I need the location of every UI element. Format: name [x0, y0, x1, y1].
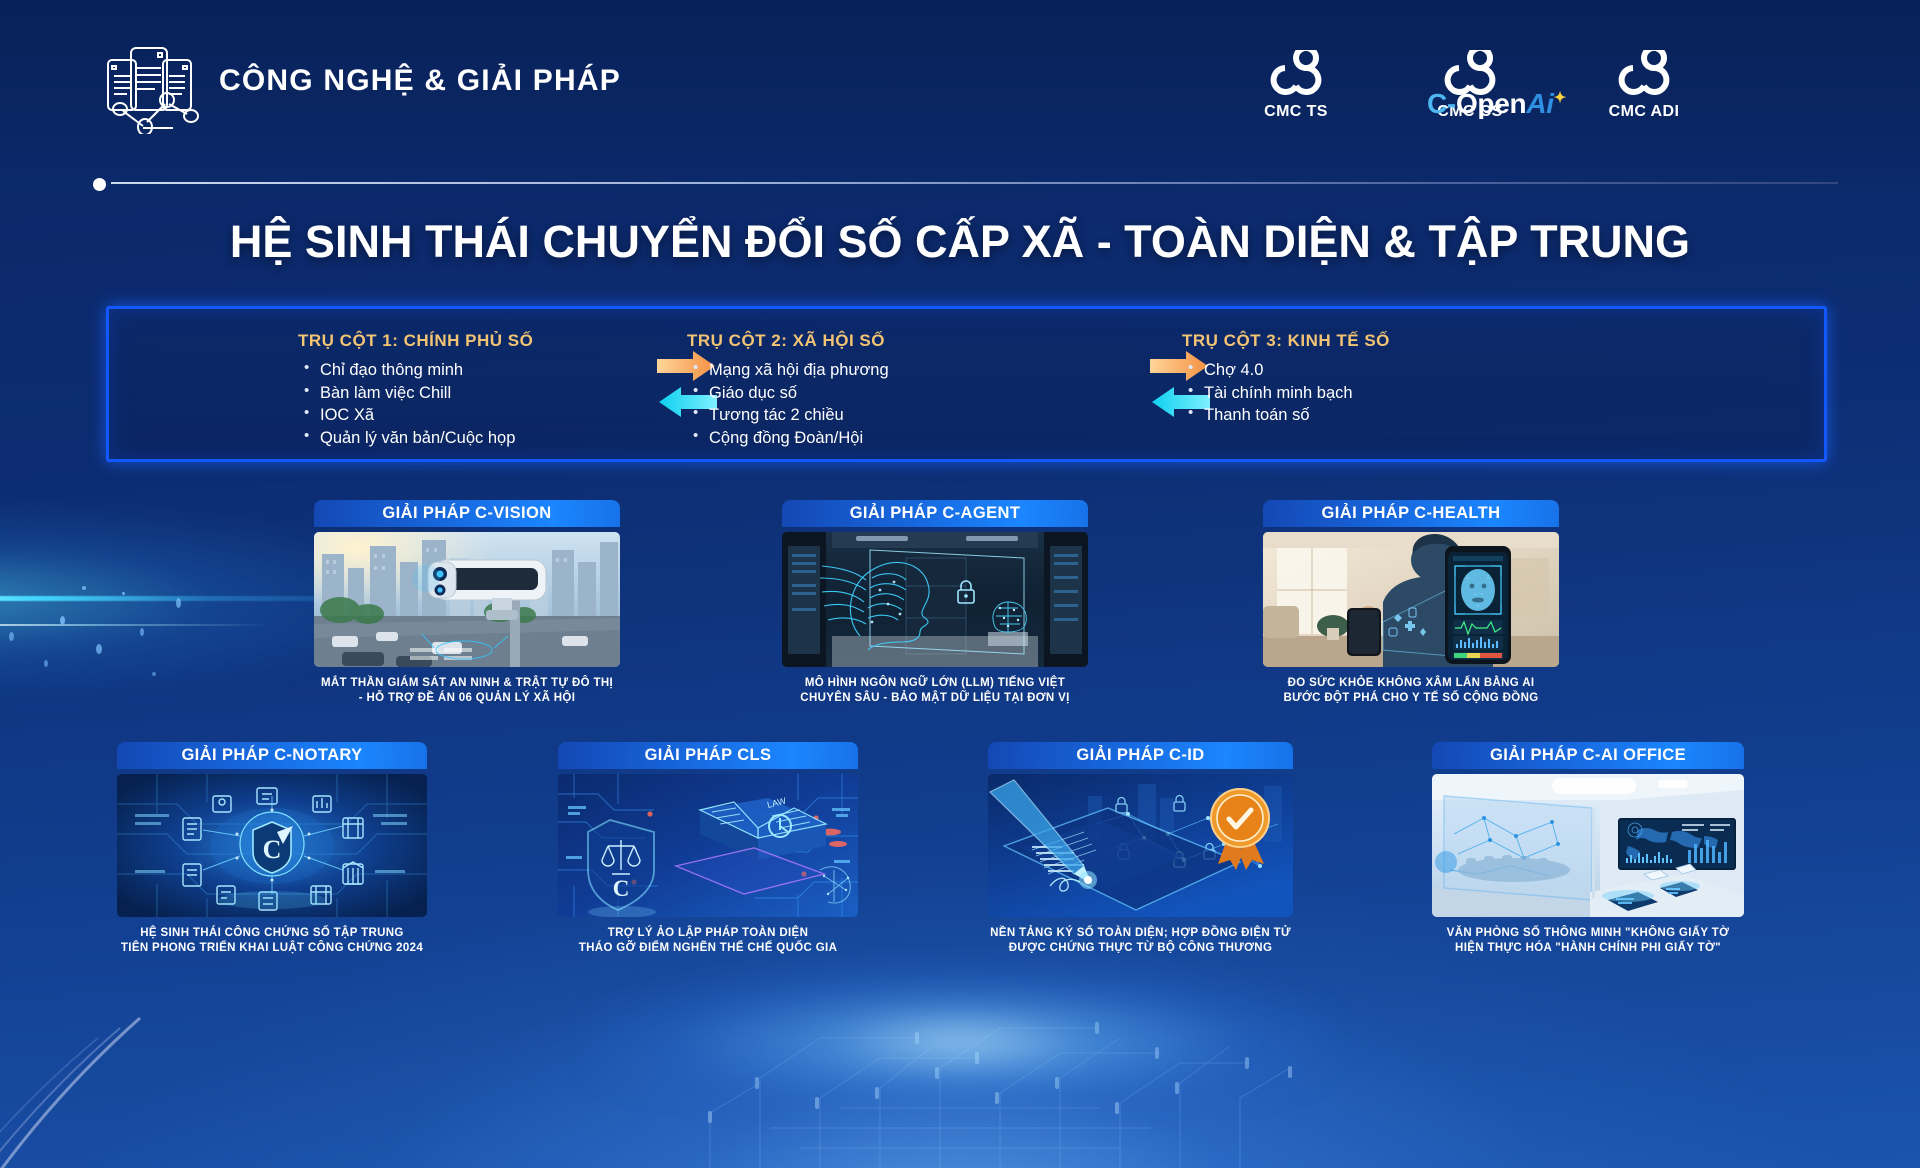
slide-header: CÔNG NGHỆ & GIẢI PHÁP CMC TS CMC CS: [0, 0, 1920, 190]
pillar-3: TRỤ CỘT 3: KINH TẾ SỐ Chợ 4.0 Tài chính …: [1182, 331, 1390, 427]
caption-line-1: NỀN TẢNG KÝ SỐ TOÀN DIỆN; HỢP ĐỒNG ĐIỆN …: [988, 926, 1293, 941]
pillar-list: Chợ 4.0 Tài chính minh bạch Thanh toán s…: [1182, 359, 1390, 427]
caption-line-2: THÁO GỠ ĐIỂM NGHẼN THỂ CHẾ QUỐC GIA: [558, 941, 858, 956]
card-caption: VĂN PHÒNG SỐ THÔNG MINH "KHÔNG GIẤY TỜ H…: [1432, 926, 1744, 957]
card-caption: MẮT THẦN GIÁM SÁT AN NINH & TRẬT TỰ ĐÔ T…: [314, 676, 620, 707]
card-caption: TRỢ LÝ ẢO LẬP PHÁP TOÀN DIỆN THÁO GỠ ĐIỂ…: [558, 926, 858, 957]
partner-logo: CMC ADI: [1590, 50, 1698, 121]
pillar-list-item: Tương tác 2 chiều: [687, 404, 889, 427]
solution-card-c-health[interactable]: GIẢI PHÁP C-HEALTH: [1263, 500, 1559, 707]
card-caption: ĐO SỨC KHỎE KHÔNG XÂM LẤN BẰNG AI BƯỚC Đ…: [1263, 676, 1559, 707]
card-image-smart-office: [1432, 774, 1744, 917]
card-title: GIẢI PHÁP C-ID: [1076, 746, 1204, 765]
card-header: GIẢI PHÁP C-NOTARY: [117, 742, 427, 769]
caption-line-1: MẮT THẦN GIÁM SÁT AN NINH & TRẬT TỰ ĐÔ T…: [314, 676, 620, 691]
solution-card-c-vision[interactable]: GIẢI PHÁP C-VISION: [314, 500, 620, 707]
caption-line-1: TRỢ LÝ ẢO LẬP PHÁP TOÀN DIỆN: [558, 926, 858, 941]
caption-line-2: HIỆN THỰC HÓA "HÀNH CHÍNH PHI GIẤY TỜ": [1432, 941, 1744, 956]
particle-dot: [152, 672, 156, 676]
card-caption: NỀN TẢNG KÝ SỐ TOÀN DIỆN; HỢP ĐỒNG ĐIỆN …: [988, 926, 1293, 957]
pillar-title: TRỤ CỘT 2: XÃ HỘI SỐ: [687, 331, 889, 351]
header-divider: [93, 178, 1838, 188]
pillar-list-item: Mạng xã hội địa phương: [687, 359, 889, 382]
pillar-list: Chỉ đạo thông minh Bàn làm việc Chill IO…: [298, 359, 533, 449]
particle-dot: [82, 586, 86, 590]
card-image-ai-face-server-room: [782, 532, 1088, 667]
pillar-list-item: Chợ 4.0: [1182, 359, 1390, 382]
pillar-title: TRỤ CỘT 1: CHÍNH PHỦ SỐ: [298, 331, 533, 351]
divider-line: [111, 182, 1838, 184]
card-image-phone-health-scan: [1263, 532, 1559, 667]
particle-dot: [9, 632, 14, 641]
pillar-list-item: Bàn làm việc Chill: [298, 382, 533, 405]
caption-line-1: MÔ HÌNH NGÔN NGỮ LỚN (LLM) TIẾNG VIỆT: [782, 676, 1088, 691]
particle-dot: [60, 616, 65, 625]
caption-line-1: HỆ SINH THÁI CÔNG CHỨNG SỐ TẬP TRUNG: [117, 926, 427, 941]
documents-analytics-icon: [103, 42, 203, 134]
copenai-part-ai: Ai: [1526, 88, 1553, 119]
caption-line-2: - HỖ TRỢ ĐỀ ÁN 06 QUẢN LÝ XÃ HỘI: [314, 691, 620, 706]
card-title: GIẢI PHÁP C-HEALTH: [1322, 504, 1501, 523]
particle-dot: [140, 628, 144, 636]
solution-card-c-notary[interactable]: GIẢI PHÁP C-NOTARY: [117, 742, 427, 957]
card-header: GIẢI PHÁP C-AI OFFICE: [1432, 742, 1744, 769]
horizon-glow: [590, 970, 1330, 1090]
pillar-list-item: Tài chính minh bạch: [1182, 382, 1390, 405]
solution-card-cls[interactable]: GIẢI PHÁP CLS: [558, 742, 858, 957]
caption-line-2: ĐƯỢC CHỨNG THỰC TỪ BỘ CÔNG THƯƠNG: [988, 941, 1293, 956]
particle-dot: [44, 660, 48, 667]
cmc-trefoil-icon: [1613, 50, 1675, 96]
divider-dot: [93, 178, 106, 191]
card-title: GIẢI PHÁP C-AI OFFICE: [1490, 746, 1686, 765]
pillar-list-item: IOC Xã: [298, 404, 533, 427]
copenai-logo: C-OpenAi✦: [1427, 88, 1566, 120]
caption-line-1: ĐO SỨC KHỎE KHÔNG XÂM LẤN BẰNG AI: [1263, 676, 1559, 691]
card-title: GIẢI PHÁP C-VISION: [382, 504, 551, 523]
pillar-list-item: Thanh toán số: [1182, 404, 1390, 427]
caption-line-1: VĂN PHÒNG SỐ THÔNG MINH "KHÔNG GIẤY TỜ: [1432, 926, 1744, 941]
card-header: GIẢI PHÁP CLS: [558, 742, 858, 769]
corner-swoosh-decoration: [0, 948, 250, 1168]
copenai-part-open: Open: [1456, 88, 1526, 119]
card-image-digital-shield-hub: C: [117, 774, 427, 917]
card-header: GIẢI PHÁP C-HEALTH: [1263, 500, 1559, 527]
three-pillars-box: TRỤ CỘT 1: CHÍNH PHỦ SỐ Chỉ đạo thông mi…: [106, 306, 1827, 462]
card-image-law-book-shield: LAW C: [558, 774, 858, 917]
pillar-list-item: Quản lý văn bản/Cuộc họp: [298, 427, 533, 450]
card-header: GIẢI PHÁP C-AGENT: [782, 500, 1088, 527]
particle-dot: [122, 592, 125, 595]
pillar-title: TRỤ CỘT 3: KINH TẾ SỐ: [1182, 331, 1390, 351]
partner-logo-label: CMC ADI: [1609, 103, 1680, 121]
card-title: GIẢI PHÁP CLS: [645, 746, 772, 765]
partner-logo: CMC TS: [1242, 50, 1350, 121]
solution-card-c-agent[interactable]: GIẢI PHÁP C-AGENT: [782, 500, 1088, 707]
particle-dot: [176, 598, 181, 608]
pillar-list-item: Chỉ đạo thông minh: [298, 359, 533, 382]
pillar-1: TRỤ CỘT 1: CHÍNH PHỦ SỐ Chỉ đạo thông mi…: [298, 331, 533, 449]
caption-line-2: TIÊN PHONG TRIỂN KHAI LUẬT CÔNG CHỨNG 20…: [117, 941, 427, 956]
card-title: GIẢI PHÁP C-NOTARY: [181, 746, 362, 765]
pillar-2: TRỤ CỘT 2: XÃ HỘI SỐ Mạng xã hội địa phư…: [687, 331, 889, 449]
card-title: GIẢI PHÁP C-AGENT: [850, 504, 1021, 523]
pillar-list-item: Giáo dục số: [687, 382, 889, 405]
partner-logo-label: CMC TS: [1264, 103, 1328, 121]
card-header: GIẢI PHÁP C-VISION: [314, 500, 620, 527]
copenai-part-c: C-: [1427, 88, 1456, 119]
card-image-cctv-camera: [314, 532, 620, 667]
svg-text:C: C: [613, 876, 630, 901]
pillar-list-item: Cộng đồng Đoàn/Hội: [687, 427, 889, 450]
left-light-streak-core: [0, 624, 270, 626]
caption-line-2: BƯỚC ĐỘT PHÁ CHO Y TẾ SỐ CỘNG ĐỒNG: [1263, 691, 1559, 706]
solution-card-c-ai-office[interactable]: GIẢI PHÁP C-AI OFFICE: [1432, 742, 1744, 957]
main-heading: HỆ SINH THÁI CHUYỂN ĐỔI SỐ CẤP XÃ - TOÀN…: [0, 216, 1920, 268]
card-caption: HỆ SINH THÁI CÔNG CHỨNG SỐ TẬP TRUNG TIÊ…: [117, 926, 427, 957]
pillar-list: Mạng xã hội địa phương Giáo dục số Tương…: [687, 359, 889, 449]
card-caption: MÔ HÌNH NGÔN NGỮ LỚN (LLM) TIẾNG VIỆT CH…: [782, 676, 1088, 707]
svg-text:C: C: [263, 835, 282, 864]
caption-line-2: CHUYÊN SÂU - BẢO MẬT DỮ LIỆU TẠI ĐƠN VỊ: [782, 691, 1088, 706]
cmc-trefoil-icon: [1265, 50, 1327, 96]
card-image-digital-signature-badge: [988, 774, 1293, 917]
star-icon: ✦: [1554, 90, 1566, 107]
solution-card-c-id[interactable]: GIẢI PHÁP C-ID: [988, 742, 1293, 957]
particle-dot: [96, 644, 102, 654]
card-header: GIẢI PHÁP C-ID: [988, 742, 1293, 769]
page-title: CÔNG NGHỆ & GIẢI PHÁP: [219, 64, 621, 98]
